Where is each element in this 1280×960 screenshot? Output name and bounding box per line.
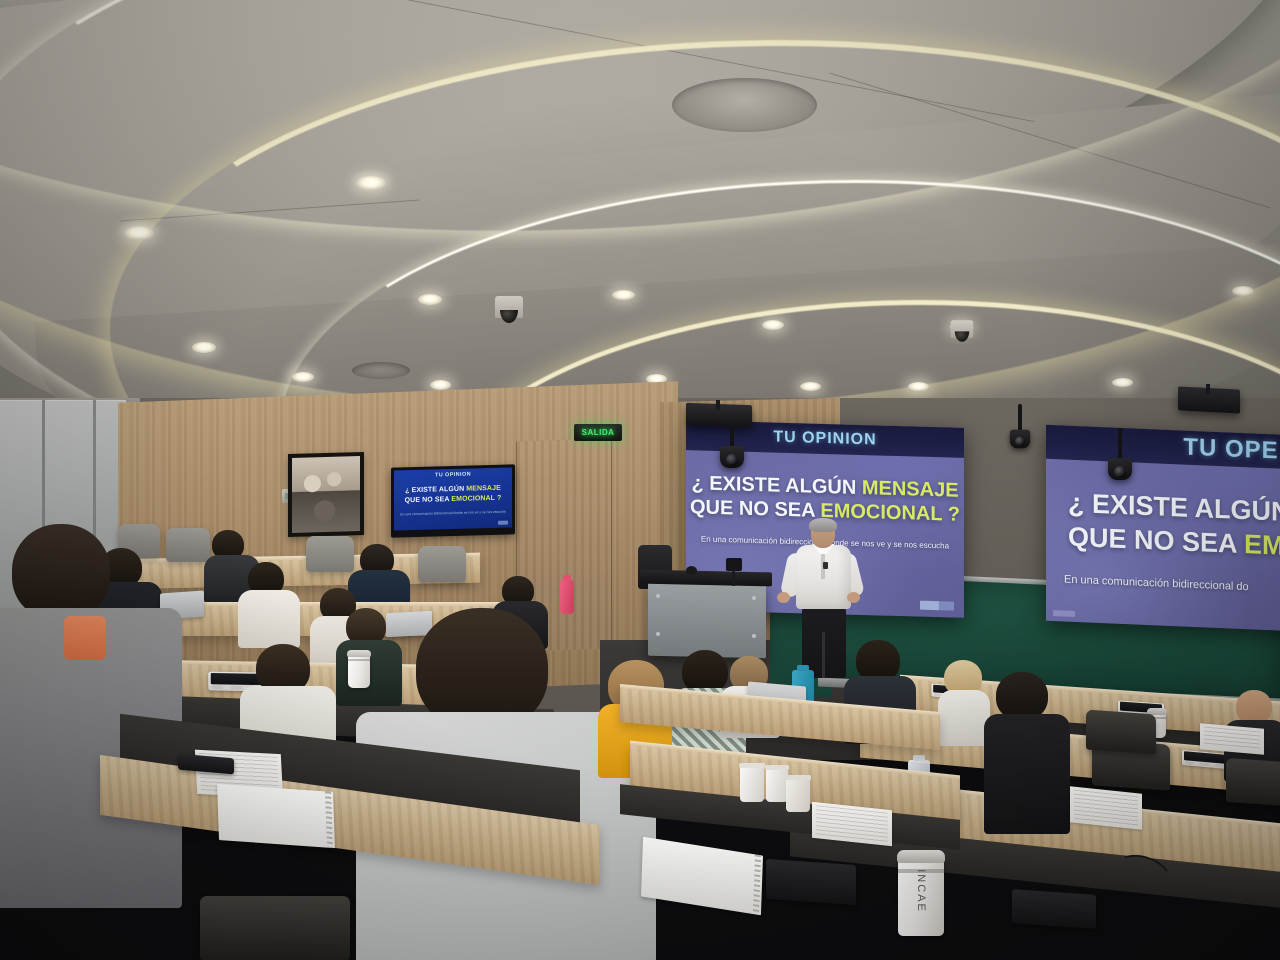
laptop[interactable] — [386, 611, 432, 637]
wall-monitor-title: TU OPINION — [394, 470, 512, 479]
lectern-camera-icon — [726, 558, 742, 571]
camera-mount — [1118, 428, 1122, 462]
slide-right-line2: QUE NO SEA EM — [1068, 522, 1280, 563]
ptz-camera-icon — [1108, 458, 1132, 480]
downlight — [418, 294, 442, 305]
camera-mount — [1018, 404, 1022, 432]
av-lectern — [648, 582, 766, 658]
handout-paper — [1070, 786, 1142, 830]
downlight — [124, 226, 154, 240]
audience-chair — [1226, 758, 1280, 806]
wall-monitor-line1: ¿ EXISTE ALGÚN MENSAJE — [394, 484, 512, 494]
coffee-cup — [740, 766, 764, 802]
collar-shirt — [64, 616, 106, 660]
ceiling — [0, 0, 1280, 430]
downlight — [612, 290, 635, 300]
slide-title: TU OPINION — [773, 429, 876, 450]
slide-right: TU OPE ¿ EXISTE ALGÚN QUE NO SEA EM En u… — [1046, 425, 1280, 631]
wall-monitor-logo — [498, 521, 508, 525]
slide-right-logo-icon — [1053, 610, 1075, 617]
audience-chair — [166, 528, 210, 562]
ceiling-vent — [352, 362, 410, 379]
wall-monitor: TU OPINION ¿ EXISTE ALGÚN MENSAJE QUE NO… — [391, 464, 515, 537]
lectern-microphone-icon — [686, 566, 697, 575]
downlight — [762, 320, 784, 330]
power-adapter — [1012, 889, 1096, 929]
handout-paper — [1200, 723, 1264, 755]
lectern-worksurface — [640, 570, 772, 587]
downlight — [356, 176, 386, 190]
wall-monitor-line2: QUE NO SEA EMOCIONAL ? — [394, 494, 512, 504]
framed-photo — [288, 452, 364, 537]
audience-chair — [306, 536, 354, 572]
presenter — [793, 520, 855, 680]
audience-chair — [1086, 710, 1156, 755]
wall-monitor-subtitle: En una comunicación bidireccional donde … — [400, 510, 506, 517]
audience-chair — [418, 546, 466, 582]
audience-chair — [200, 896, 350, 960]
coffee-cup — [766, 768, 788, 802]
slide-right-title: TU OPE — [1183, 434, 1278, 466]
downlight — [1112, 378, 1133, 387]
water-bottle — [560, 580, 574, 614]
tumbler — [348, 654, 370, 688]
spiral-notebook — [217, 784, 335, 848]
downlight — [192, 342, 216, 353]
ptz-camera-icon — [1010, 430, 1030, 449]
spiral-notebook — [641, 837, 763, 916]
ceiling-vent — [672, 78, 817, 132]
downlight — [430, 380, 451, 390]
downlight — [292, 372, 314, 382]
slide-logo-right-icon — [920, 601, 954, 611]
downlight — [908, 382, 929, 391]
ptz-camera-icon — [720, 446, 744, 468]
slide-right-subtitle: En una comunicación bidireccional do — [1064, 574, 1280, 596]
exit-sign-label: SALIDA — [582, 428, 615, 437]
dome-camera-icon — [495, 296, 523, 318]
lapel-microphone-icon — [823, 562, 828, 569]
exit-sign: SALIDA — [574, 424, 622, 441]
tumbler-brand-label: INCAE — [915, 868, 927, 914]
power-adapter — [766, 859, 856, 905]
dome-camera-icon — [951, 320, 973, 338]
classroom-scene: SALIDA TU OPINION ¿ EXISTE ALGÚN MENSAJE… — [0, 0, 1280, 960]
coffee-cup — [786, 778, 810, 812]
secondary-projection-screen: TU OPE ¿ EXISTE ALGÚN QUE NO SEA EM En u… — [1046, 425, 1280, 631]
downlight — [1232, 286, 1254, 296]
downlight — [800, 382, 821, 391]
incae-tumbler: INCAE — [898, 858, 944, 936]
